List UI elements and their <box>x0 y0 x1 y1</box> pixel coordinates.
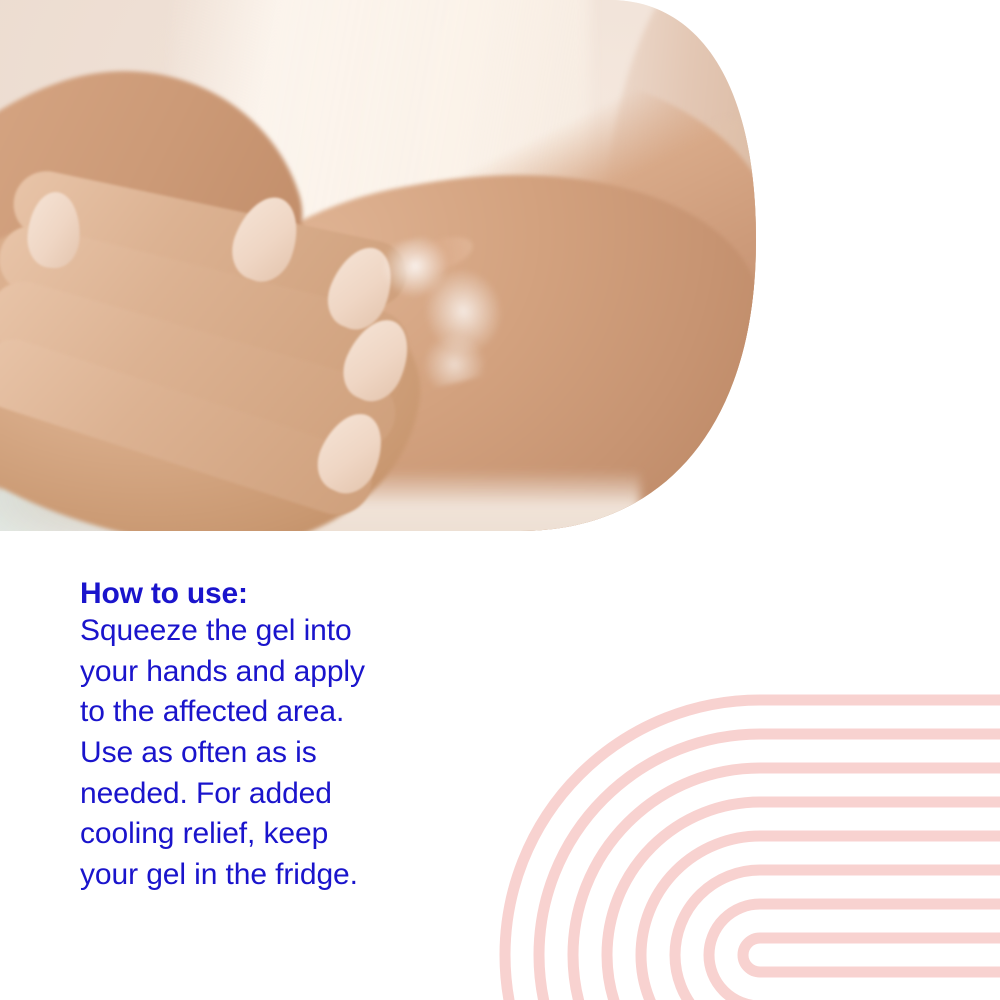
how-to-use-heading: How to use: <box>80 578 500 609</box>
arc-stripe-8 <box>505 700 1000 1000</box>
how-to-use-block: How to use: Squeeze the gel into your ha… <box>80 578 500 896</box>
arc-stripe-1 <box>743 938 1000 972</box>
poster-canvas: How to use: Squeeze the gel into your ha… <box>0 0 1000 1000</box>
how-to-use-body: Squeeze the gel into your hands and appl… <box>80 611 500 895</box>
arc-stripe-2 <box>709 904 1000 1000</box>
